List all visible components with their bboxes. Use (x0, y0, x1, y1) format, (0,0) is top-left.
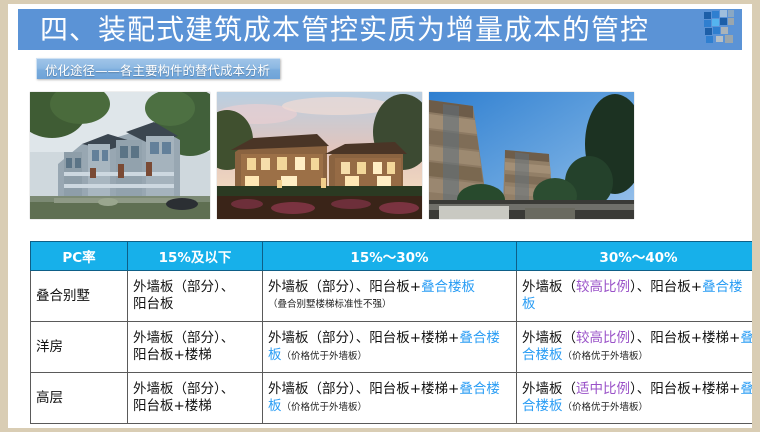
row-type-label: 洋房 (31, 322, 128, 373)
cell-note: （价格优于外墙板） (563, 351, 649, 362)
subtitle-bar: 优化途径——各主要构件的替代成本分析 (36, 58, 280, 79)
cell-text-line2: 阳台板+楼梯 (133, 398, 257, 415)
table-header-30-40: 30%～40% (517, 242, 753, 271)
cell-text-main: 外墙板（部分）、阳台板+ (268, 279, 421, 295)
cell-text-mid: ）、阳台板+ (630, 279, 702, 295)
cell-text-accent-purple: 较高比例 (576, 330, 630, 346)
subtitle-label: 优化途径——各主要构件的替代成本分析 (45, 60, 270, 79)
cell-text-pre: 外墙板（ (522, 381, 576, 397)
photo-strip (30, 92, 640, 219)
cell-under15: 外墙板（部分）、 阳台板+楼梯 (128, 322, 263, 373)
cell-15-30: 外墙板（部分）、阳台板+楼梯+叠合楼板（价格优于外墙板） (263, 322, 517, 373)
cell-text-accent-purple: 较高比例 (576, 279, 630, 295)
cell-note: （叠合别墅楼梯标准性不强） (268, 296, 511, 313)
cell-text-mid: ）、阳台板+楼梯+ (630, 330, 740, 346)
photo-high-rise (429, 92, 634, 219)
cell-30-40: 外墙板（较高比例）、阳台板+楼梯+叠合楼板（价格优于外墙板） (517, 322, 753, 373)
cell-text-accent-blue: 叠合楼板 (421, 279, 475, 295)
cell-text-line1: 外墙板（部分）、 (133, 381, 257, 398)
cell-text-line2: 阳台板 (133, 296, 257, 313)
cell-note: （价格优于外墙板） (282, 402, 368, 413)
cell-15-30: 外墙板（部分）、阳台板+楼梯+叠合楼板（价格优于外墙板） (263, 373, 517, 424)
table-row: 叠合别墅 外墙板（部分）、 阳台板 外墙板（部分）、阳台板+叠合楼板（叠合别墅楼… (31, 271, 753, 322)
cell-30-40: 外墙板（适中比例）、阳台板+楼梯+叠合楼板（价格优于外墙板） (517, 373, 753, 424)
slide-canvas: 四、装配式建筑成本管控实质为增量成本的管控 优化途径——各主要构件的替代成本分析 (8, 4, 752, 428)
cell-text-accent-purple: 适中比例 (576, 381, 630, 397)
table-header-15-30: 15%～30% (263, 242, 517, 271)
company-logo-icon (700, 6, 742, 50)
cell-text-main: 外墙板（部分）、阳台板+楼梯+ (268, 381, 459, 397)
table-header-under-15: 15%及以下 (128, 242, 263, 271)
cell-note: （价格优于外墙板） (282, 351, 368, 362)
cell-note: （价格优于外墙板） (563, 402, 649, 413)
cell-under15: 外墙板（部分）、 阳台板+楼梯 (128, 373, 263, 424)
cell-text-line2: 阳台板+楼梯 (133, 347, 257, 364)
cell-text-main: 外墙板（部分）、阳台板+楼梯+ (268, 330, 459, 346)
page-title: 四、装配式建筑成本管控实质为增量成本的管控 (40, 13, 649, 46)
cell-text-mid: ）、阳台板+楼梯+ (630, 381, 740, 397)
title-banner: 四、装配式建筑成本管控实质为增量成本的管控 (18, 9, 742, 50)
cell-15-30: 外墙板（部分）、阳台板+叠合楼板（叠合别墅楼梯标准性不强） (263, 271, 517, 322)
cell-text-pre: 外墙板（ (522, 330, 576, 346)
cell-under15: 外墙板（部分）、 阳台板 (128, 271, 263, 322)
row-type-label: 高层 (31, 373, 128, 424)
cell-text-line1: 外墙板（部分）、 (133, 279, 257, 296)
cell-text-line1: 外墙板（部分）、 (133, 330, 257, 347)
table-row: 洋房 外墙板（部分）、 阳台板+楼梯 外墙板（部分）、阳台板+楼梯+叠合楼板（价… (31, 322, 753, 373)
row-type-label: 叠合别墅 (31, 271, 128, 322)
table-header-row: PC率 15%及以下 15%～30% 30%～40% (31, 242, 753, 271)
photo-stacked-villa (30, 92, 210, 219)
photo-townhouse-villa (217, 92, 422, 219)
cell-text-pre: 外墙板（ (522, 279, 576, 295)
cell-30-40: 外墙板（较高比例）、阳台板+叠合楼板 (517, 271, 753, 322)
table-row: 高层 外墙板（部分）、 阳台板+楼梯 外墙板（部分）、阳台板+楼梯+叠合楼板（价… (31, 373, 753, 424)
table-header-pc-rate: PC率 (31, 242, 128, 271)
component-substitution-table: PC率 15%及以下 15%～30% 30%～40% 叠合别墅 外墙板（部分）、… (30, 241, 752, 424)
